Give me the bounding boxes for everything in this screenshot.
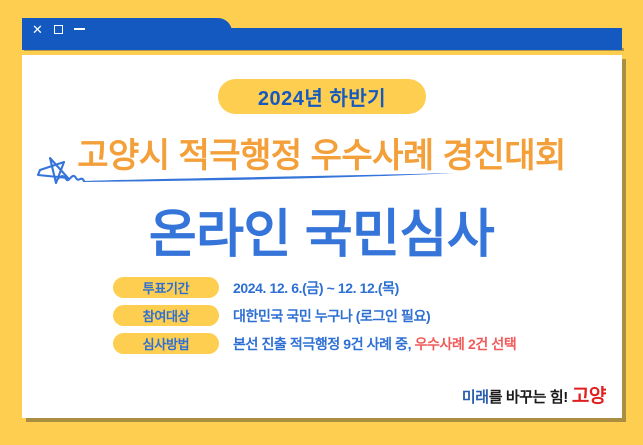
info-value: 2024. 12. 6.(금) ~ 12. 12.(목) xyxy=(233,278,399,298)
info-value-text: 대한민국 국민 누구나 (로그인 필요) xyxy=(233,308,430,324)
info-label-pill: 심사방법 xyxy=(113,333,219,354)
info-row-review-method: 심사방법 본선 진출 적극행정 9건 사례 중, 우수사례 2건 선택 xyxy=(113,330,583,357)
page-title: 온라인 국민심사 xyxy=(0,192,643,267)
info-label-pill: 참여대상 xyxy=(113,305,219,326)
page-title-text: 온라인 국민심사 xyxy=(149,192,494,267)
info-label-text: 심사방법 xyxy=(143,334,190,353)
slogan-part-future: 미래 xyxy=(462,386,489,407)
info-list: 투표기간 2024. 12. 6.(금) ~ 12. 12.(목) 참여대상 대… xyxy=(113,274,583,358)
info-row-voting-period: 투표기간 2024. 12. 6.(금) ~ 12. 12.(목) xyxy=(113,274,583,301)
slogan-part-goyang: 고양 xyxy=(572,381,606,408)
info-value: 본선 진출 적극행정 9건 사례 중, 우수사례 2건 선택 xyxy=(233,334,516,354)
window-controls: ✕ xyxy=(32,19,85,39)
info-value-text: 2024. 12. 6.(금) ~ 12. 12.(목) xyxy=(233,280,399,296)
star-squiggle-icon xyxy=(34,152,474,194)
info-label-text: 참여대상 xyxy=(143,306,190,325)
minimize-icon[interactable] xyxy=(74,28,85,30)
maximize-icon[interactable] xyxy=(54,25,63,34)
info-label-pill: 투표기간 xyxy=(113,277,219,298)
info-value: 대한민국 국민 누구나 (로그인 필요) xyxy=(233,306,430,326)
period-badge: 2024년 하반기 xyxy=(218,79,426,114)
poster-canvas: ✕ 2024년 하반기 고양시 적극행정 우수사례 경진대회 온라인 국민심사 … xyxy=(0,0,643,445)
info-value-emphasis: 우수사례 2건 선택 xyxy=(415,336,517,352)
period-badge-label: 2024년 하반기 xyxy=(258,82,386,111)
close-icon[interactable]: ✕ xyxy=(32,23,43,36)
slogan-part-phrase: 를 바꾸는 힘! xyxy=(489,386,568,407)
info-label-text: 투표기간 xyxy=(143,278,190,297)
city-slogan: 미래 를 바꾸는 힘! 고양 xyxy=(462,381,606,408)
info-row-participants: 참여대상 대한민국 국민 누구나 (로그인 필요) xyxy=(113,302,583,329)
info-value-text: 본선 진출 적극행정 9건 사례 중, xyxy=(233,336,415,352)
